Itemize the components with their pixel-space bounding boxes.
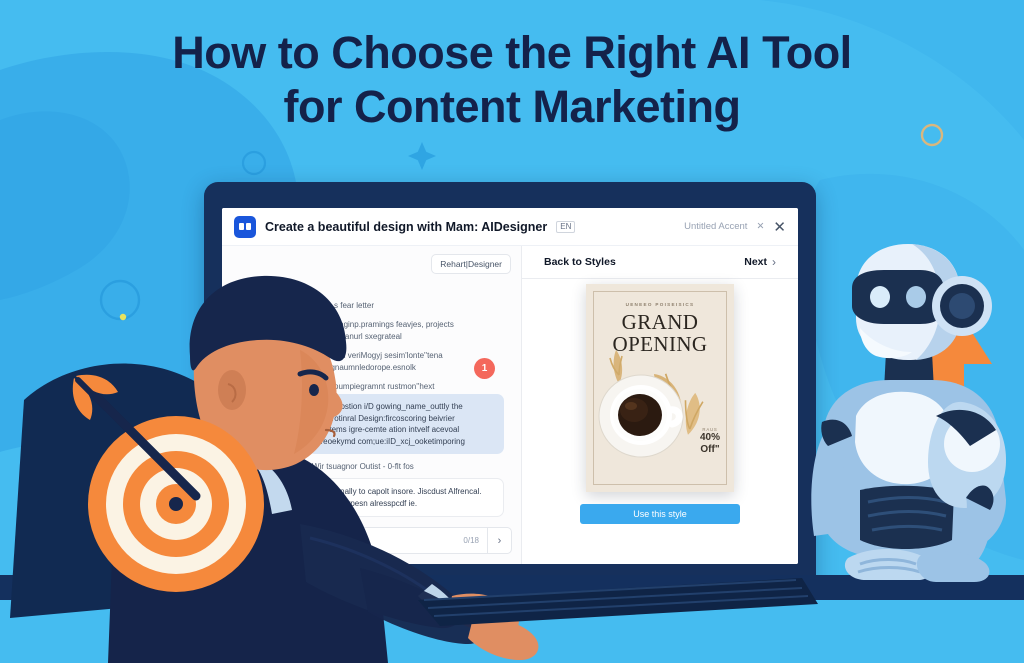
header-right-controls: Untitled Accent ✕ ✕ [684,218,786,236]
close-icon[interactable]: ✕ [773,218,786,236]
poster-preview[interactable]: UENEEO POISEISICS GRAND OPENING [586,284,734,492]
poster-headline-line-1: GRAND [586,312,734,334]
language-chip[interactable]: EN [556,221,575,233]
poster-offer: RAUS 40% Off" [700,427,720,456]
dart-arrow [60,362,220,522]
title-line-1: How to Choose the Right AI Tool [0,26,1024,80]
app-grid-icon [234,216,256,238]
tab-untitled-accent[interactable]: Untitled Accent [684,221,747,232]
title-line-2: for Content Marketing [0,80,1024,134]
dark-keyboard [400,560,820,630]
humanoid-robot-with-visor [800,240,1024,640]
poster-eyebrow: UENEEO POISEISICS [586,302,734,307]
poster-canvas: How to Choose the Right AI Tool for Cont… [0,0,1024,663]
coffee-cup-top-view-with-wheat [586,344,734,484]
use-this-style-button[interactable]: Use this style [580,504,740,524]
poster-preview-wrap: UENEEO POISEISICS GRAND OPENING [522,284,798,492]
next-button[interactable]: Next › [744,255,776,269]
style-pane-toolbar: Back to Styles Next › [522,246,798,279]
style-preview-pane: Back to Styles Next › UENEEO POISEISICS … [522,246,798,564]
close-small-icon[interactable]: ✕ [756,221,764,232]
chevron-right-icon: › [772,255,776,269]
page-title: How to Choose the Right AI Tool for Cont… [0,26,1024,134]
offer-percent: 40% [700,432,720,444]
app-title: Create a beautiful design with Mam: AIDe… [265,220,547,234]
offer-label: Off" [700,444,720,456]
offer-kicker: RAUS [700,427,720,432]
